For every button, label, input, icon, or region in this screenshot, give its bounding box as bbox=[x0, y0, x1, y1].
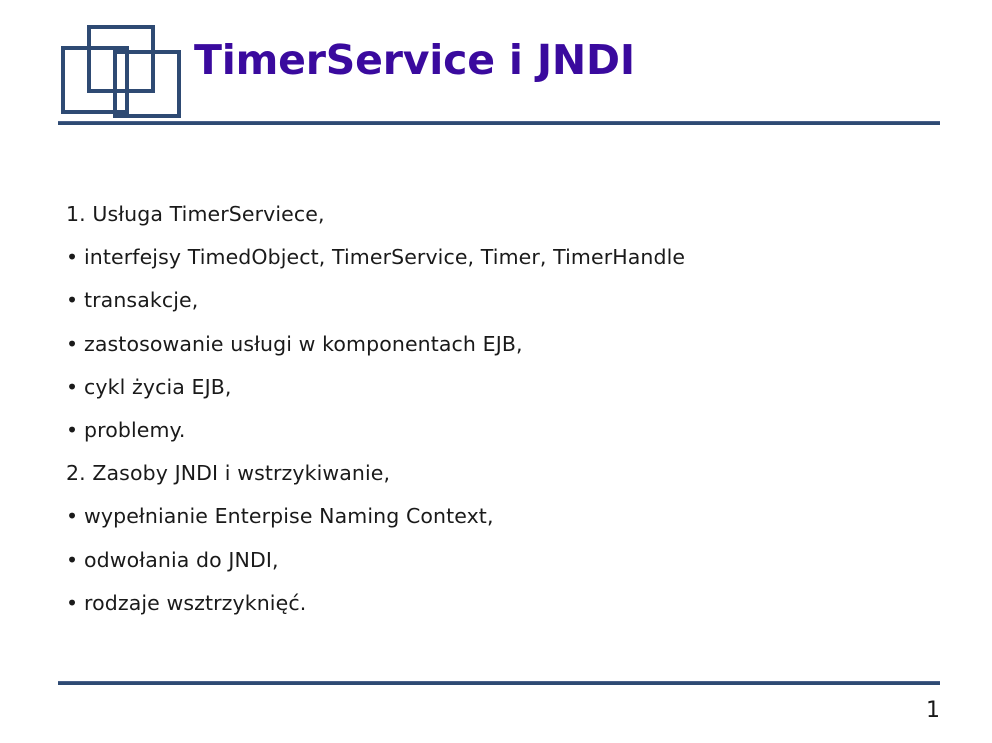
slide: TimerService i JNDI 1. Usługa TimerServi… bbox=[0, 0, 992, 743]
list-item: •transakcje, bbox=[66, 279, 926, 322]
bullet-icon: • bbox=[66, 236, 84, 279]
bullet-icon: • bbox=[66, 582, 84, 625]
page-number: 1 bbox=[926, 698, 940, 723]
list-item-label: transakcje, bbox=[84, 288, 198, 312]
list-item-label: interfejsy TimedObject, TimerService, Ti… bbox=[84, 245, 685, 269]
bullet-icon: • bbox=[66, 323, 84, 366]
list-item-label: odwołania do JNDI, bbox=[84, 548, 279, 572]
three-overlapping-squares-logo bbox=[60, 24, 186, 119]
bullet-icon: • bbox=[66, 366, 84, 409]
page-title: TimerService i JNDI bbox=[194, 38, 635, 84]
list-item-label: 2. Zasoby JNDI i wstrzykiwanie, bbox=[66, 461, 390, 485]
list-item: 1. Usługa TimerServiece, bbox=[66, 193, 926, 236]
list-item: •odwołania do JNDI, bbox=[66, 539, 926, 582]
list-item-label: 1. Usługa TimerServiece, bbox=[66, 202, 325, 226]
list-item-label: problemy. bbox=[84, 418, 185, 442]
footer-divider bbox=[58, 681, 940, 685]
list-item-label: zastosowanie usługi w komponentach EJB, bbox=[84, 332, 523, 356]
slide-content-list: 1. Usługa TimerServiece, •interfejsy Tim… bbox=[66, 193, 926, 625]
list-item-label: wypełnianie Enterpise Naming Context, bbox=[84, 504, 494, 528]
bullet-icon: • bbox=[66, 279, 84, 322]
list-item: •problemy. bbox=[66, 409, 926, 452]
list-item: •wypełnianie Enterpise Naming Context, bbox=[66, 495, 926, 538]
bullet-icon: • bbox=[66, 409, 84, 452]
list-item-label: cykl życia EJB, bbox=[84, 375, 232, 399]
list-item-label: rodzaje wsztrzyknięć. bbox=[84, 591, 306, 615]
list-item: •cykl życia EJB, bbox=[66, 366, 926, 409]
list-item: •interfejsy TimedObject, TimerService, T… bbox=[66, 236, 926, 279]
list-item: •rodzaje wsztrzyknięć. bbox=[66, 582, 926, 625]
bullet-icon: • bbox=[66, 495, 84, 538]
bullet-icon: • bbox=[66, 539, 84, 582]
list-item: 2. Zasoby JNDI i wstrzykiwanie, bbox=[66, 452, 926, 495]
slide-header: TimerService i JNDI bbox=[0, 0, 992, 130]
list-item: •zastosowanie usługi w komponentach EJB, bbox=[66, 323, 926, 366]
header-divider bbox=[58, 121, 940, 125]
